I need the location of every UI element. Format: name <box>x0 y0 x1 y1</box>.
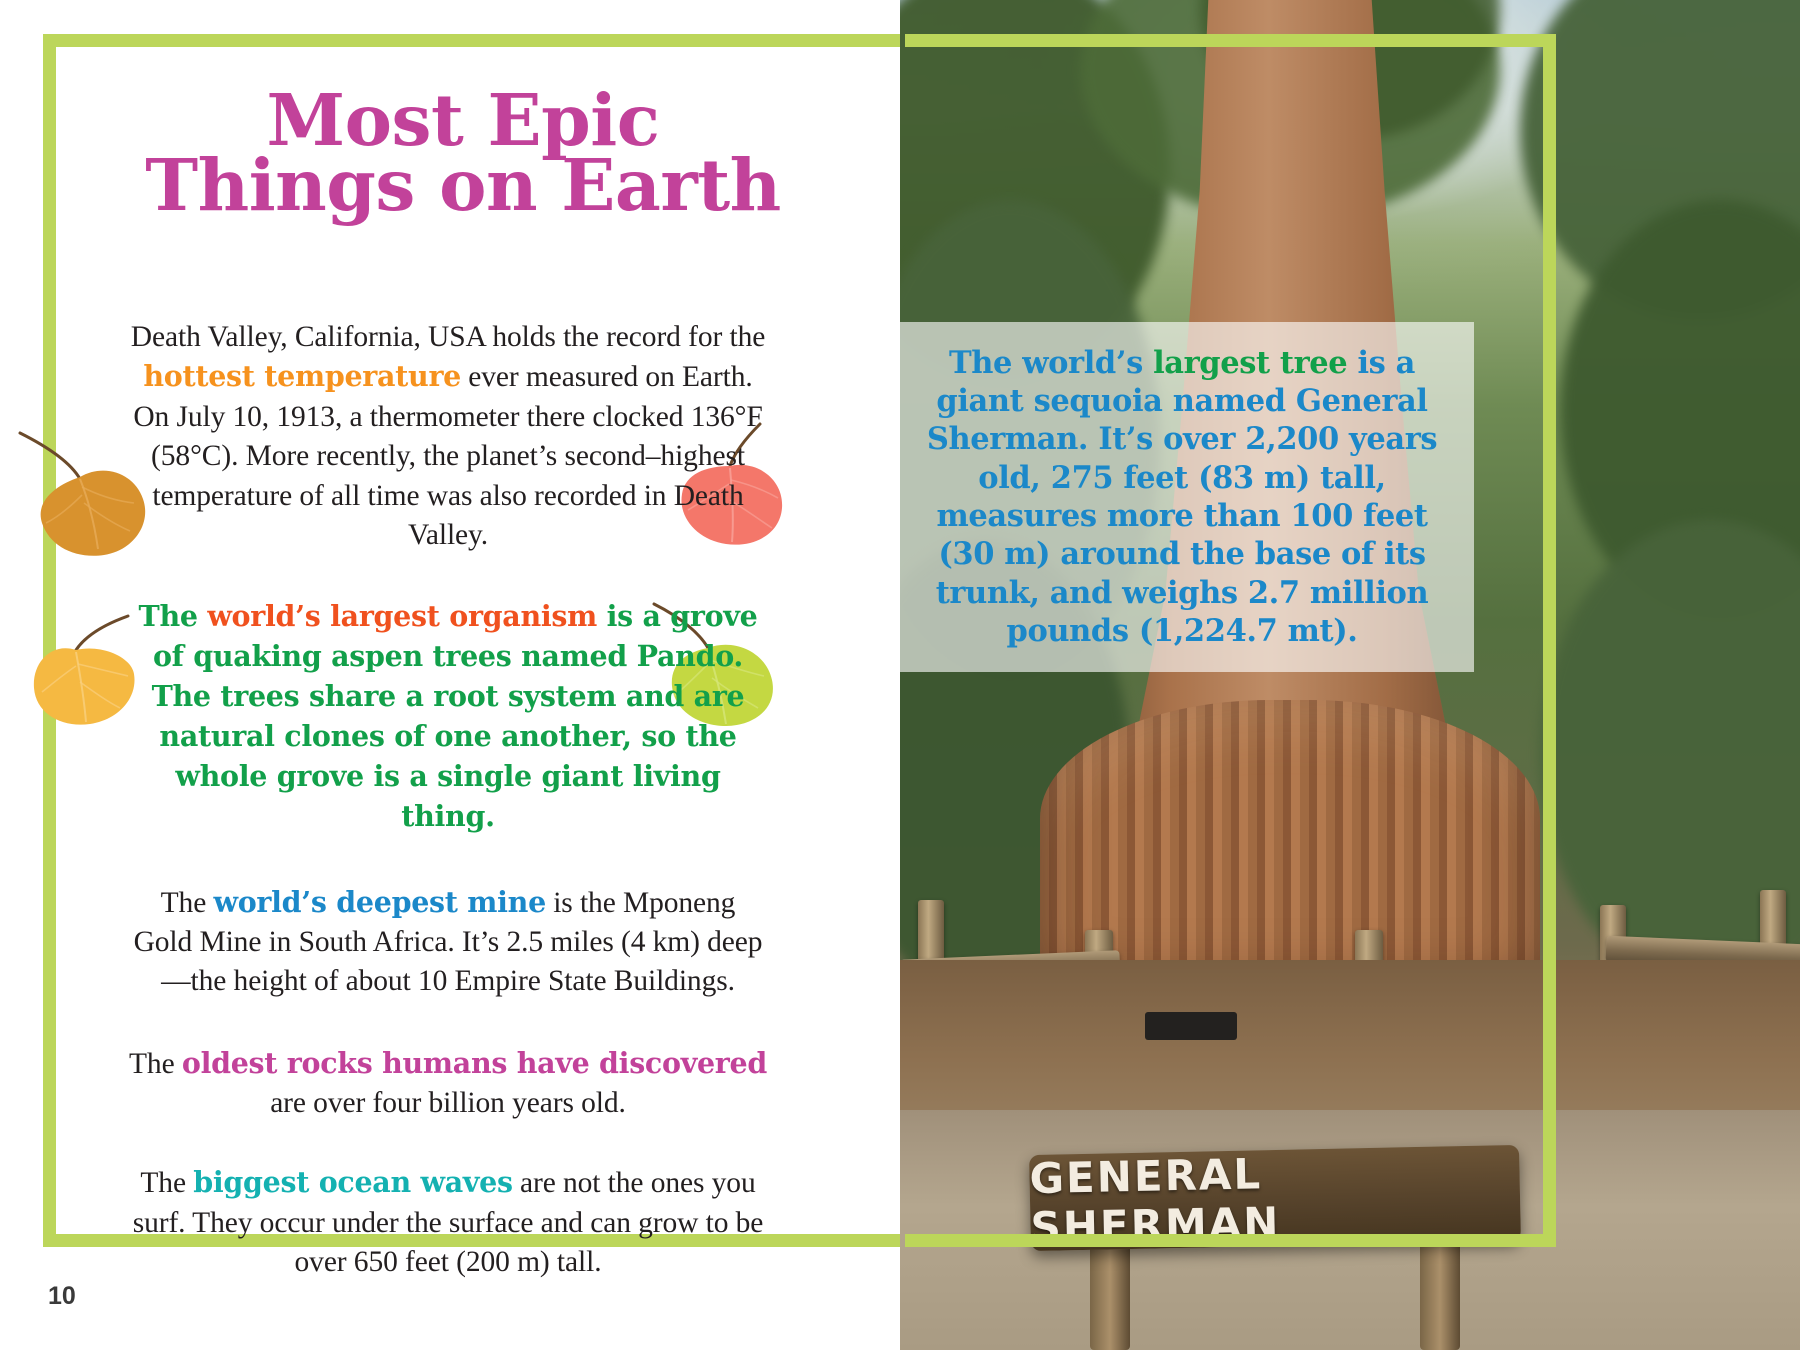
caption-highlight: largest tree <box>1153 345 1347 381</box>
trail-plaque <box>1145 1012 1237 1040</box>
title-line-2: Things on Earth <box>78 153 848 218</box>
fact-lead: The <box>140 1167 193 1199</box>
fact-highlight: biggest ocean waves <box>193 1165 513 1199</box>
sign-legs <box>1050 1240 1500 1350</box>
fact-lead: The <box>161 887 214 919</box>
border-top <box>43 34 900 47</box>
fact-tail: are over four billion years old. <box>270 1087 626 1119</box>
caption-tail: is a giant sequoia named General Sherman… <box>927 345 1437 649</box>
fact-tail: is a grove of quaking aspen trees named … <box>152 599 758 832</box>
fact-largest-organism: The world’s largest organism is a grove … <box>128 597 768 836</box>
fact-list: Death Valley, California, USA holds the … <box>128 318 768 1283</box>
caption-overlay: The world’s largest tree is a giant sequ… <box>890 322 1474 672</box>
sign-leg <box>1420 1240 1460 1350</box>
border-right-vertical <box>1543 34 1556 1247</box>
fact-oldest-rocks: The oldest rocks humans have discovered … <box>128 1044 768 1124</box>
caption-text: The world’s largest tree is a giant sequ… <box>890 344 1474 650</box>
fact-highlight: oldest rocks humans have discovered <box>182 1046 767 1080</box>
book-spread: Most Epic Things on Earth Death Valley, … <box>0 0 1800 1350</box>
fact-hottest-temperature: Death Valley, California, USA holds the … <box>128 318 768 555</box>
right-page-photo: GENERAL SHERMAN <box>900 0 1800 1350</box>
page-number: 10 <box>48 1282 76 1311</box>
fact-highlight: world’s largest organism <box>207 599 597 633</box>
border-right-top <box>905 34 1556 47</box>
border-right-bottom <box>905 1234 1556 1247</box>
fact-highlight: hottest temperature <box>143 359 461 393</box>
fact-lead: Death Valley, California, USA holds the … <box>131 321 765 353</box>
caption-lead: The world’s <box>949 345 1153 381</box>
page-title: Most Epic Things on Earth <box>78 88 848 219</box>
left-page: Most Epic Things on Earth Death Valley, … <box>0 0 900 1350</box>
fact-deepest-mine: The world’s deepest mine is the Mponeng … <box>128 883 768 1002</box>
fact-biggest-ocean-waves: The biggest ocean waves are not the ones… <box>128 1163 768 1282</box>
fact-highlight: world’s deepest mine <box>213 885 545 919</box>
fact-lead: The <box>129 1048 182 1080</box>
sign-leg <box>1090 1240 1130 1350</box>
fact-lead: The <box>139 599 208 633</box>
